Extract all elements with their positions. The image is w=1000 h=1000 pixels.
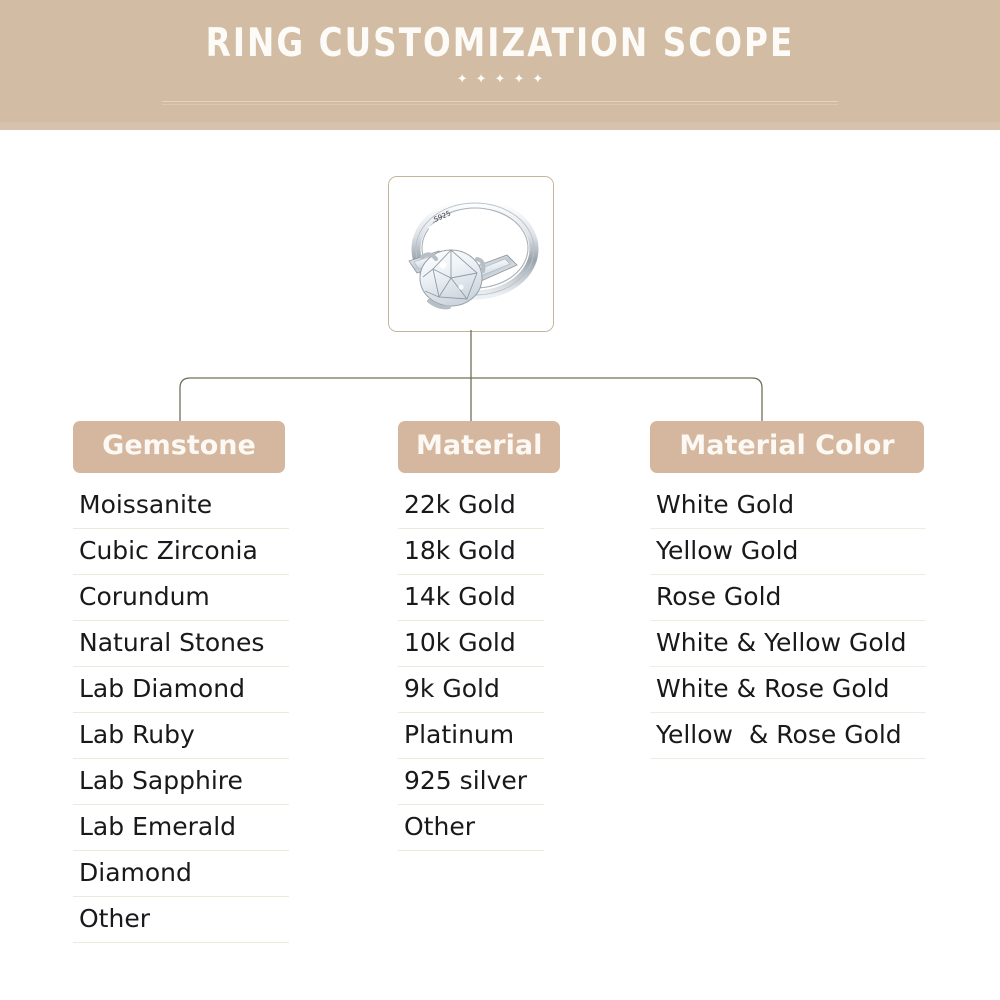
list-item[interactable]: Natural Stones [73,621,289,667]
category-column-material: Material 22k Gold 18k Gold 14k Gold 10k … [398,421,544,851]
banner-divider-top [162,101,838,102]
option-list-material-color: White Gold Yellow Gold Rose Gold White &… [650,483,926,759]
list-item[interactable]: Rose Gold [650,575,926,621]
banner-divider-bottom [162,104,838,105]
list-item[interactable]: White & Rose Gold [650,667,926,713]
list-item[interactable]: Yellow & Rose Gold [650,713,926,759]
category-column-gemstone: Gemstone Moissanite Cubic Zirconia Corun… [73,421,289,943]
list-item[interactable]: White Gold [650,483,926,529]
star-decoration-icon: ✦✦✦✦✦ [0,72,1000,88]
list-item[interactable]: Platinum [398,713,544,759]
page-title: RING CUSTOMIZATION SCOPE [35,22,965,66]
list-item[interactable]: Diamond [73,851,289,897]
column-header-gemstone[interactable]: Gemstone [73,421,285,473]
list-item[interactable]: White & Yellow Gold [650,621,926,667]
column-header-material[interactable]: Material [398,421,560,473]
list-item[interactable]: Lab Diamond [73,667,289,713]
category-column-material-color: Material Color White Gold Yellow Gold Ro… [650,421,926,759]
option-list-material: 22k Gold 18k Gold 14k Gold 10k Gold 9k G… [398,483,544,851]
list-item[interactable]: 925 silver [398,759,544,805]
org-connector-lines [0,330,1000,425]
list-item[interactable]: Moissanite [73,483,289,529]
option-list-gemstone: Moissanite Cubic Zirconia Corundum Natur… [73,483,289,943]
list-item[interactable]: Lab Sapphire [73,759,289,805]
list-item[interactable]: Lab Emerald [73,805,289,851]
ring-photo-icon: .S925 [389,177,553,331]
column-header-material-color[interactable]: Material Color [650,421,924,473]
list-item[interactable]: Yellow Gold [650,529,926,575]
list-item[interactable]: Other [398,805,544,851]
list-item[interactable]: 14k Gold [398,575,544,621]
product-image-card: .S925 [388,176,554,332]
list-item[interactable]: 9k Gold [398,667,544,713]
header-banner-edge [0,122,1000,130]
list-item[interactable]: Corundum [73,575,289,621]
list-item[interactable]: Other [73,897,289,943]
list-item[interactable]: Cubic Zirconia [73,529,289,575]
list-item[interactable]: 18k Gold [398,529,544,575]
list-item[interactable]: Lab Ruby [73,713,289,759]
list-item[interactable]: 10k Gold [398,621,544,667]
list-item[interactable]: 22k Gold [398,483,544,529]
